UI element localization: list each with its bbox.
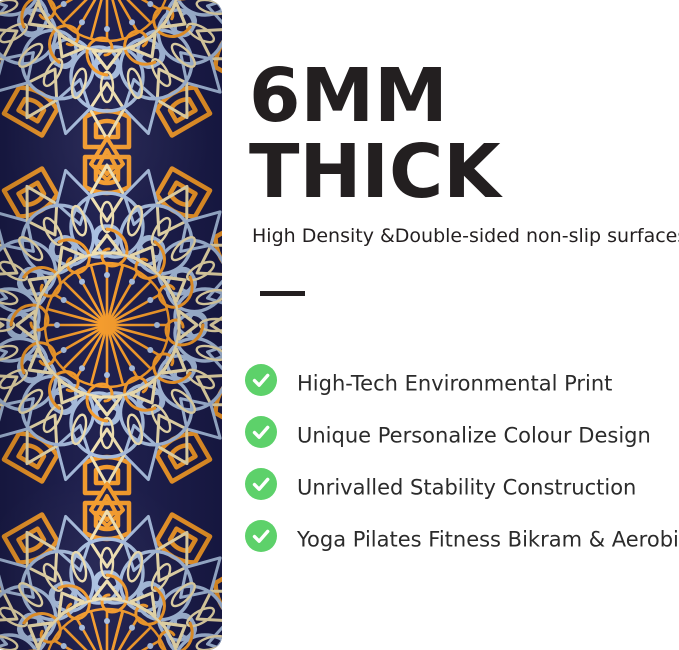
page-title: 6MM THICK: [249, 58, 669, 210]
list-item: Yoga Pilates Fitness Bikram & Aerobics: [222, 514, 679, 566]
feature-label: Unrivalled Stability Construction: [297, 474, 636, 500]
product-image-yoga-mat: [0, 0, 222, 650]
mat-surface: [0, 0, 222, 650]
check-circle-icon: [245, 520, 277, 552]
feature-list: High-Tech Environmental Print Unique Per…: [222, 358, 679, 566]
marketing-copy-panel: 6MM THICK High Density &Double-sided non…: [222, 0, 679, 650]
product-feature-banner: 6MM THICK High Density &Double-sided non…: [0, 0, 679, 650]
feature-label: Unique Personalize Colour Design: [297, 422, 651, 448]
list-item: Unique Personalize Colour Design: [222, 410, 679, 462]
divider-rule: [260, 291, 305, 296]
subtitle: High Density &Double-sided non-slip surf…: [252, 224, 677, 248]
feature-label: High-Tech Environmental Print: [297, 370, 612, 396]
check-circle-icon: [245, 416, 277, 448]
headline-line-1: 6MM: [249, 58, 669, 134]
mandala-motif-bottom: [0, 474, 222, 650]
list-item: Unrivalled Stability Construction: [222, 462, 679, 514]
check-circle-icon: [245, 468, 277, 500]
check-circle-icon: [245, 364, 277, 396]
feature-label: Yoga Pilates Fitness Bikram & Aerobics: [297, 526, 679, 552]
mandala-motif-center: [0, 128, 222, 522]
headline-line-2: THICK: [249, 134, 669, 210]
list-item: High-Tech Environmental Print: [222, 358, 679, 410]
